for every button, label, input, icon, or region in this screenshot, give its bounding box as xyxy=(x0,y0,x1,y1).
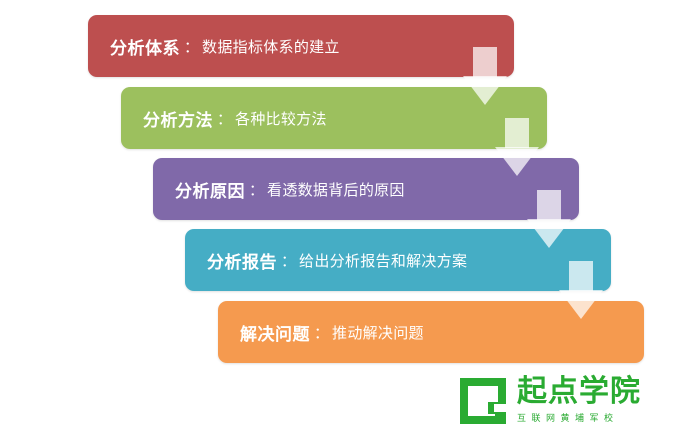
flow-step-2-separator: ： xyxy=(213,108,235,129)
logo-title: 起点学院 xyxy=(517,377,641,407)
flow-step-1[interactable]: 分析体系 ： 数据指标体系的建立 xyxy=(88,15,514,77)
flow-step-5-separator: ： xyxy=(310,322,332,343)
flow-step-2-label: 分析方法 xyxy=(143,106,213,131)
flow-step-3-separator: ： xyxy=(245,179,267,200)
flow-step-3-label: 分析原因 xyxy=(175,177,245,202)
flow-step-4-label: 分析报告 xyxy=(207,248,277,273)
flow-step-2-description: 各种比较方法 xyxy=(235,108,327,129)
flow-step-5-label: 解决问题 xyxy=(240,320,310,345)
flow-step-1-description: 数据指标体系的建立 xyxy=(202,36,340,57)
flow-step-2[interactable]: 分析方法 ： 各种比较方法 xyxy=(121,87,547,149)
flow-diagram: 分析体系 ： 数据指标体系的建立 分析方法 ： 各种比较方法 分析原因 ： 看透… xyxy=(0,0,678,432)
flow-step-4[interactable]: 分析报告 ： 给出分析报告和解决方案 xyxy=(185,229,611,291)
brand-logo[interactable]: 起点学院 互联网黄埔军校 xyxy=(458,373,670,428)
flow-step-3[interactable]: 分析原因 ： 看透数据背后的原因 xyxy=(153,158,579,220)
flow-step-1-label: 分析体系 xyxy=(110,34,180,59)
flow-step-4-separator: ： xyxy=(277,250,299,271)
logo-subtitle: 互联网黄埔军校 xyxy=(517,411,641,424)
flow-step-3-description: 看透数据背后的原因 xyxy=(267,179,405,200)
flow-step-5-description: 推动解决问题 xyxy=(332,322,424,343)
qidian-square-mark-icon xyxy=(458,376,508,426)
logo-text-block: 起点学院 互联网黄埔军校 xyxy=(517,377,641,424)
flow-step-4-description: 给出分析报告和解决方案 xyxy=(299,250,467,271)
flow-step-1-separator: ： xyxy=(180,36,202,57)
flow-step-5[interactable]: 解决问题 ： 推动解决问题 xyxy=(218,301,644,363)
